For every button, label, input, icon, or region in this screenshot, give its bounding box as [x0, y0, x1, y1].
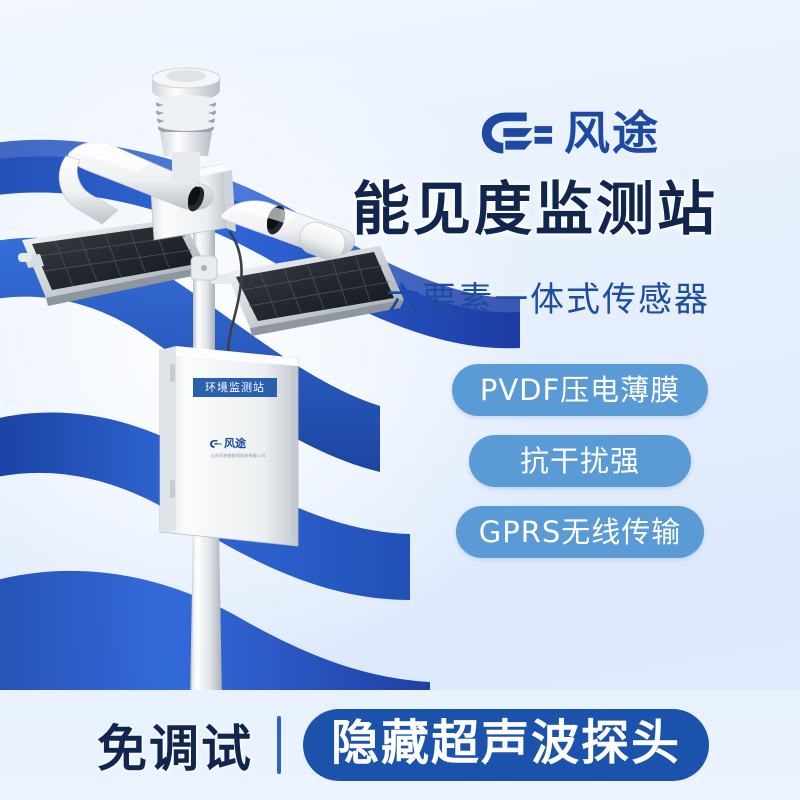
product-banner: 环境监测站 风途 山东风途物联网科技有限公司 风途 能见度监测站 六要素一体式传… [0, 0, 800, 800]
feature-list: PVDF压电薄膜 抗干扰强 GPRS无线传输 [452, 364, 708, 558]
enclosure-brand-text: 风途 [224, 437, 246, 450]
fengtu-logo-icon [478, 108, 554, 158]
bottom-plain-text: 免调试 [97, 709, 253, 781]
brand-name: 风途 [564, 110, 660, 156]
fengtu-logo-icon-small [209, 439, 222, 449]
feature-pill-pvdf[interactable]: PVDF压电薄膜 [452, 364, 708, 416]
feature-pill-anti-interference[interactable]: 抗干扰强 [469, 435, 691, 487]
page-subtitle: 六要素一体式传感器 [386, 272, 786, 321]
brand-logo: 风途 [478, 108, 660, 158]
bottom-divider [277, 716, 281, 774]
bottom-highlight-pill: 隐藏超声波探头 [303, 709, 709, 781]
enclosure-label: 环境监测站 [193, 378, 277, 397]
ultrasonic-weather-sensor [152, 68, 220, 182]
bottom-highlight-bar: 免调试 隐藏超声波探头 [0, 690, 800, 800]
feature-pill-gprs[interactable]: GPRS无线传输 [456, 506, 704, 558]
enclosure-brand-logo: 风途 [209, 437, 265, 450]
page-title: 能见度监测站 [352, 178, 782, 241]
enclosure-company-text: 山东风途物联网科技有限公司 [199, 453, 277, 459]
